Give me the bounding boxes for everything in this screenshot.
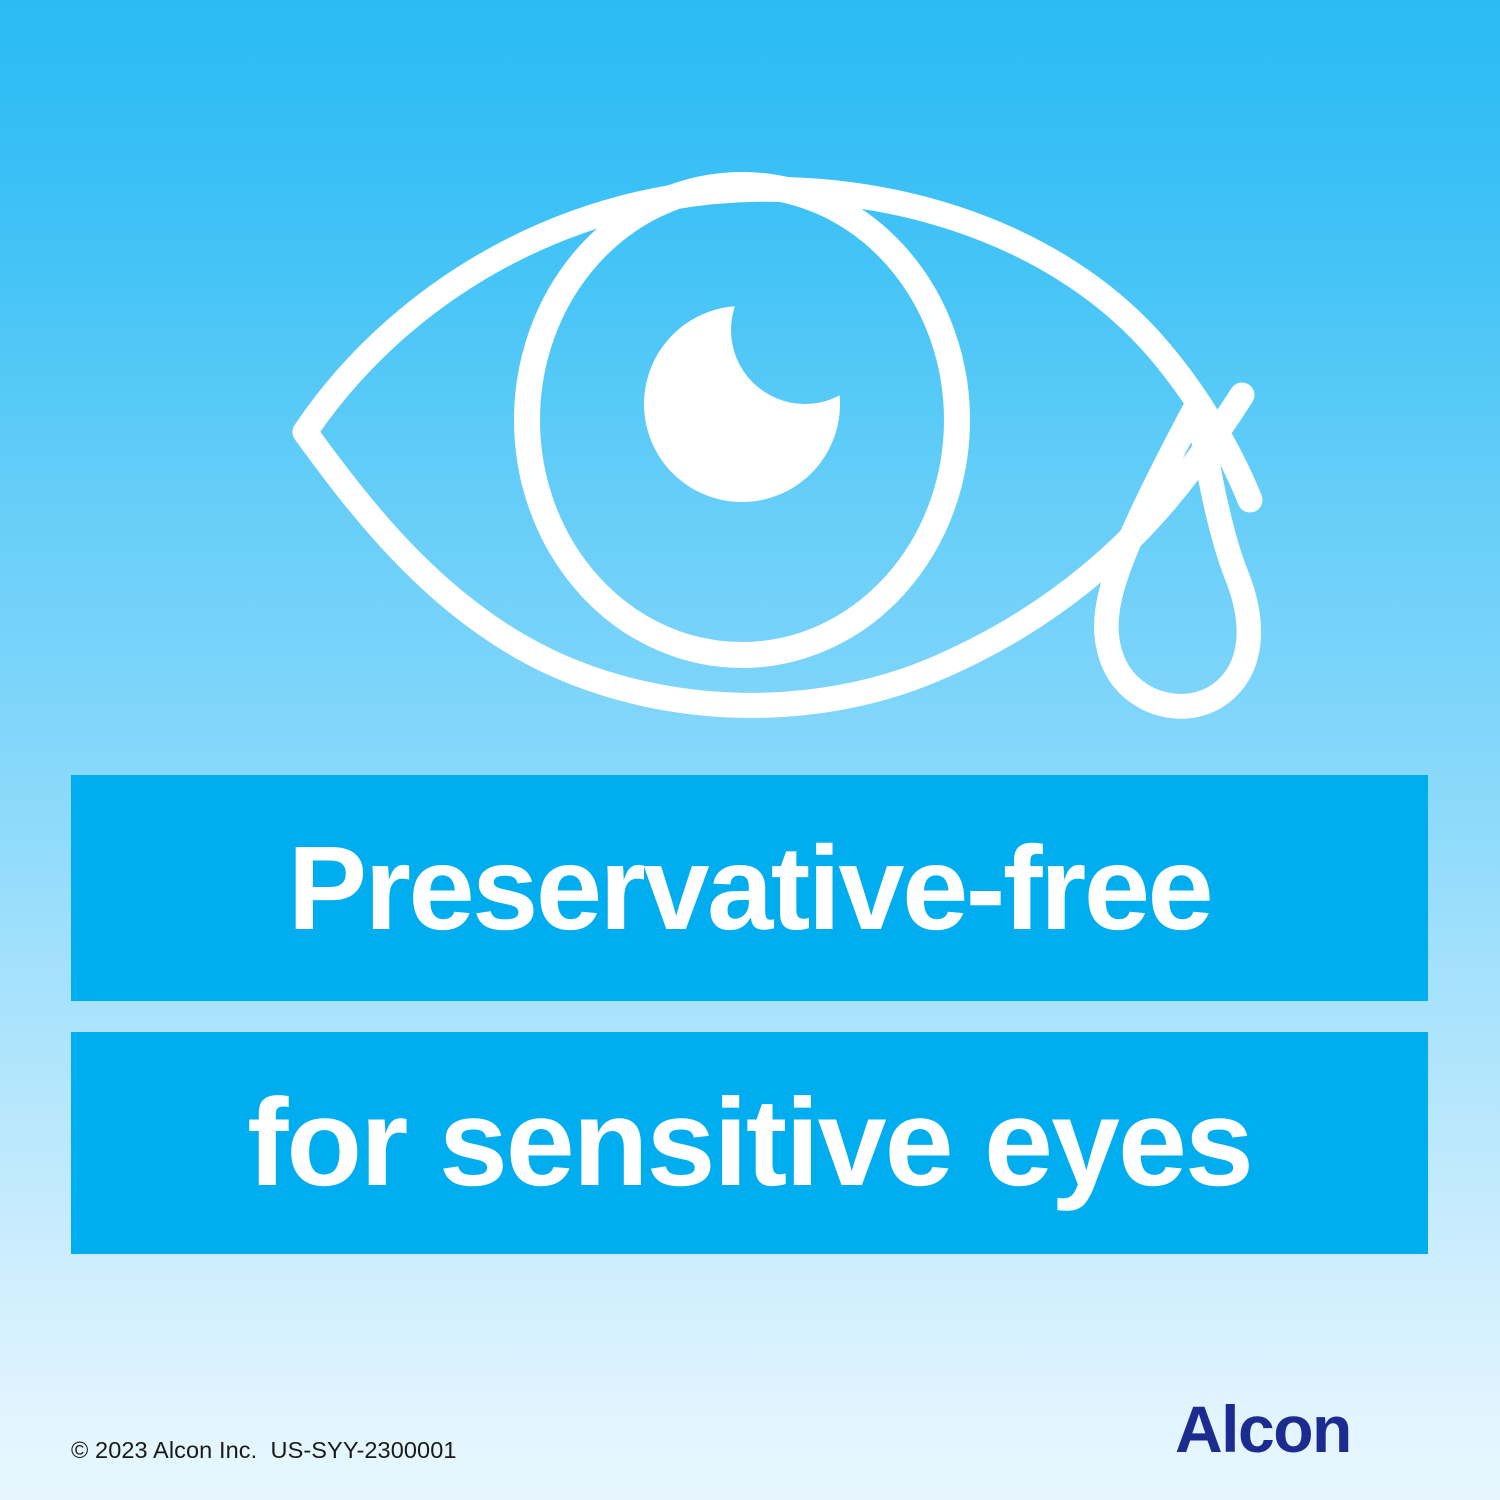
headline-bar-primary: Preservative-free — [71, 775, 1428, 1001]
alcon-wordmark-text: Alcon — [1175, 1398, 1351, 1460]
headline-line-1: Preservative-free — [288, 829, 1211, 948]
eye-icon-svg — [290, 170, 1270, 730]
headline-bar-secondary: for sensitive eyes — [71, 1032, 1428, 1254]
eye-with-teardrop-icon — [290, 170, 1270, 730]
legal-copyright-line: © 2023 Alcon Inc. US-SYY-2300001 — [71, 1437, 457, 1464]
pupil-crescent — [590, 270, 910, 590]
headline-line-2: for sensitive eyes — [247, 1081, 1252, 1205]
alcon-wordmark: Alcon — [1175, 1398, 1430, 1460]
alcon-wordmark-svg: Alcon — [1175, 1398, 1430, 1460]
marketing-graphic-canvas: Preservative-free for sensitive eyes © 2… — [0, 0, 1500, 1500]
